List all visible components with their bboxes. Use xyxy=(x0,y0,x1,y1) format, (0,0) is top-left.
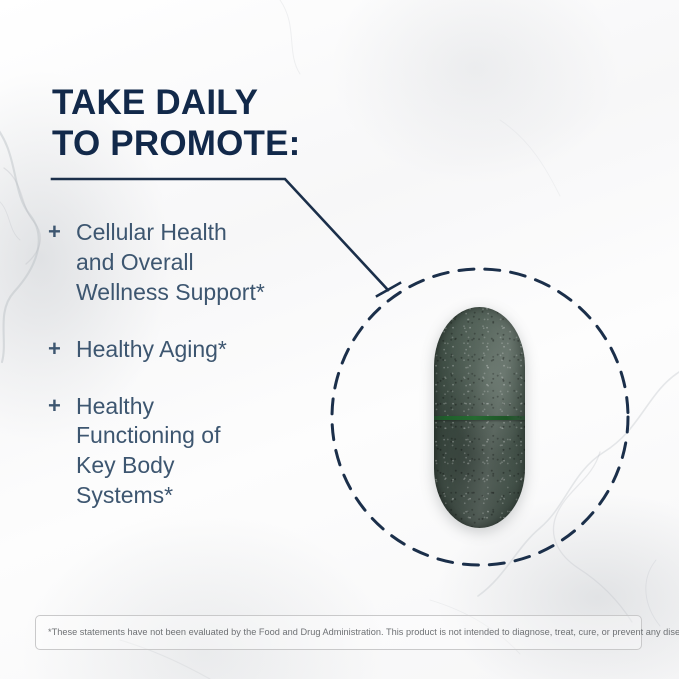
benefit-label: Healthy Aging* xyxy=(76,335,227,365)
plus-icon: + xyxy=(48,392,76,421)
disclaimer-box: *These statements have not been evaluate… xyxy=(35,615,642,650)
benefit-label: Cellular Health and Overall Wellness Sup… xyxy=(76,218,265,308)
page-title: TAKE DAILY TO PROMOTE: xyxy=(52,83,382,165)
plus-icon: + xyxy=(48,335,76,364)
product-highlight xyxy=(330,267,630,567)
disclaimer-text: *These statements have not been evaluate… xyxy=(48,627,679,639)
plus-icon: + xyxy=(48,218,76,247)
list-item: + Healthy Functioning of Key Body System… xyxy=(48,392,348,512)
tablet-score-line xyxy=(434,416,525,420)
list-item: + Cellular Health and Overall Wellness S… xyxy=(48,218,348,308)
product-benefits-panel: TAKE DAILY TO PROMOTE: + Cellular Health… xyxy=(0,0,679,679)
benefit-label: Healthy Functioning of Key Body Systems* xyxy=(76,392,220,512)
green-tablet-image xyxy=(434,307,525,528)
benefits-list: + Cellular Health and Overall Wellness S… xyxy=(48,218,348,538)
list-item: + Healthy Aging* xyxy=(48,335,348,365)
